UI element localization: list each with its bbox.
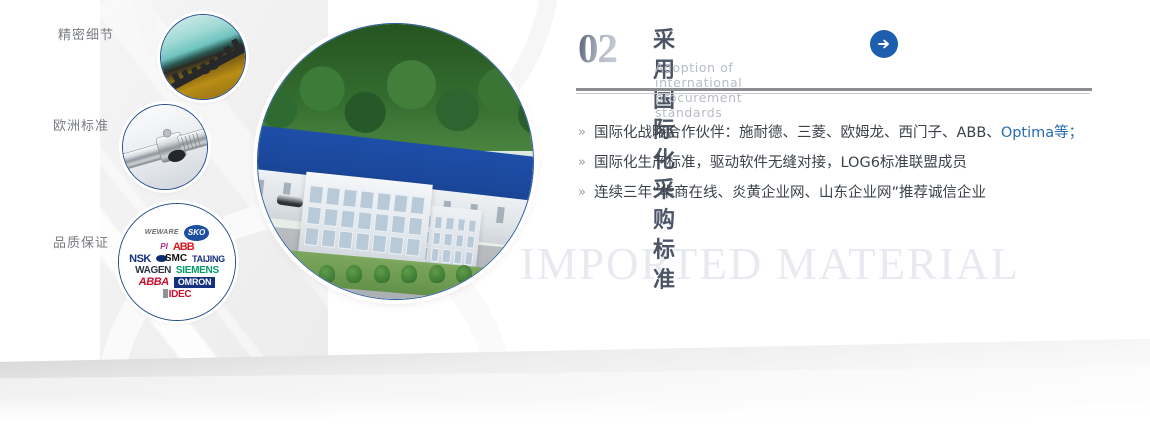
- brand-smc: SMC: [156, 254, 187, 264]
- brand-idec-text: IDEC: [169, 289, 192, 300]
- label-precision: 精密细节: [58, 24, 114, 43]
- gear-teeth-icon: [161, 15, 245, 99]
- shrub: [456, 265, 472, 283]
- brand-logos-circle[interactable]: WEWARE SKO PI ABB NSK SMC TAIJING WAGEN …: [118, 203, 236, 321]
- list-item-text: 连续三年“华商在线、炎黄企业网、山东企业网”推荐诚信企业: [594, 178, 986, 208]
- list-item-text: 国际化战略合作伙伴：施耐德、三菱、欧姆龙、西门子、ABB、Optima等；: [594, 118, 1083, 148]
- shrub: [401, 265, 417, 283]
- brand-abba: ABBA: [139, 277, 169, 288]
- gallery-panel: 精密细节 欧洲标准 品质保证: [0, 0, 560, 372]
- brand-row: NSK SMC TAIJING: [123, 254, 231, 265]
- watermark-text: IMPORTED MATERIAL: [520, 238, 1020, 290]
- list-item-highlight: Optima等；: [1001, 125, 1083, 141]
- content-panel: IMPORTED MATERIAL 02 采用国际化采购标准 Adoption …: [578, 0, 1118, 430]
- brand-nsk: NSK: [129, 254, 151, 265]
- chevron-bullet-icon: »: [578, 178, 594, 208]
- brand-taijing: TAIJING: [192, 255, 225, 264]
- ball-screw-icon: [123, 105, 207, 189]
- brand-weware: WEWARE: [145, 229, 179, 236]
- brand-row: ABBA OMRON: [123, 277, 231, 288]
- list-item-text: 国际化生产标准，驱动软件无缝对接，LOG6标准联盟成员: [594, 148, 967, 178]
- list-item-main: 国际化生产标准，驱动软件无缝对接，LOG6标准联盟成员: [594, 155, 967, 171]
- list-item: » 国际化战略合作伙伴：施耐德、三菱、欧姆龙、西门子、ABB、Optima等；: [578, 118, 1098, 148]
- brand-smc-text: SMC: [165, 253, 187, 264]
- list-item-main: 国际化战略合作伙伴：施耐德、三菱、欧姆龙、西门子、ABB、: [594, 125, 1001, 141]
- header-divider-thin: [576, 93, 1090, 94]
- shrub: [374, 265, 390, 283]
- shrub: [319, 265, 335, 283]
- arrow-right-icon[interactable]: [870, 30, 898, 58]
- brand-row: WAGEN SIEMENS: [123, 266, 231, 276]
- office-windows: [304, 185, 426, 257]
- list-item: » 连续三年“华商在线、炎黄企业网、山东企业网”推荐诚信企业: [578, 178, 1098, 208]
- factory-building-photo[interactable]: [257, 23, 534, 300]
- chevron-bullet-icon: »: [578, 118, 594, 148]
- list-item: » 国际化生产标准，驱动软件无缝对接，LOG6标准联盟成员: [578, 148, 1098, 178]
- shrub: [291, 265, 307, 283]
- brand-logo-list: WEWARE SKO PI ABB NSK SMC TAIJING WAGEN …: [119, 204, 235, 320]
- feature-list: » 国际化战略合作伙伴：施耐德、三菱、欧姆龙、西门子、ABB、Optima等； …: [578, 118, 1098, 208]
- brand-wagen: WAGEN: [135, 266, 171, 276]
- brand-omron: OMRON: [174, 277, 216, 288]
- promo-banner: 精密细节 欧洲标准 品质保证: [0, 0, 1150, 430]
- section-number: 02: [578, 26, 617, 70]
- chevron-bullet-icon: »: [578, 148, 594, 178]
- brand-pi: PI: [160, 243, 168, 251]
- shrub: [484, 265, 500, 283]
- label-quality-guarantee: 品质保证: [53, 232, 109, 251]
- gear-detail-circle[interactable]: [160, 14, 246, 100]
- label-european-standard: 欧洲标准: [53, 115, 109, 134]
- list-item-main: 连续三年“华商在线、炎黄企业网、山东企业网”推荐诚信企业: [594, 185, 986, 201]
- header-divider-thick: [576, 88, 1092, 91]
- brand-row: WEWARE SKO: [123, 225, 231, 241]
- brand-row: IDEC: [123, 289, 231, 300]
- brand-siemens: SIEMENS: [176, 266, 219, 276]
- office-building: [298, 172, 432, 265]
- brand-row: PI ABB: [123, 242, 231, 253]
- ball-screw-circle[interactable]: [122, 104, 208, 190]
- brand-idec: IDEC: [163, 289, 192, 300]
- brand-abb: ABB: [173, 242, 194, 253]
- shrub: [429, 265, 445, 283]
- shrub: [346, 265, 362, 283]
- brand-sko: SKO: [184, 225, 209, 241]
